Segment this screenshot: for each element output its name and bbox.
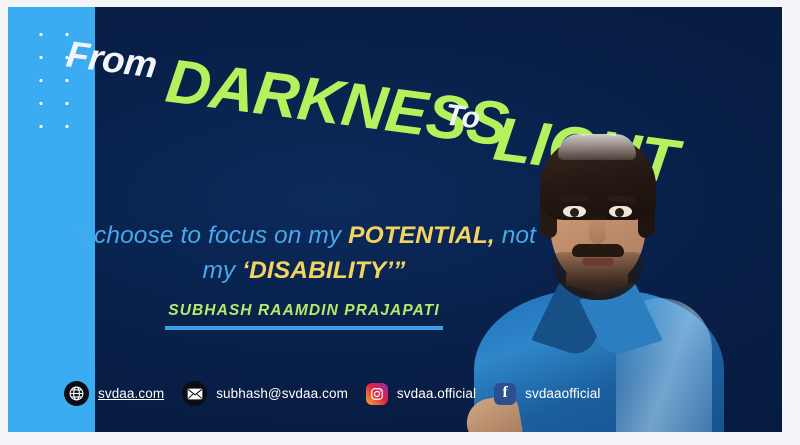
contact-item-facebook[interactable]: f svdaaofficial: [494, 383, 600, 405]
author-underline-rule: [165, 326, 443, 330]
contact-bar: svdaa.com subhash@svdaa.com: [64, 381, 600, 406]
globe-icon: [64, 381, 89, 406]
quote-text: “I choose to focus on my POTENTIAL, not …: [54, 219, 554, 289]
email-label: subhash@svdaa.com: [216, 386, 348, 401]
portrait-pupil-right: [615, 208, 624, 217]
contact-item-instagram[interactable]: svdaa.official: [366, 383, 476, 405]
quote-part-opening: “I choose to focus on my: [72, 222, 348, 249]
portrait-mouth: [582, 258, 614, 266]
quote-highlight-potential: POTENTIAL,: [348, 222, 495, 249]
contact-item-email[interactable]: subhash@svdaa.com: [182, 381, 348, 406]
facebook-label: svdaaofficial: [525, 386, 600, 401]
portrait-moustache: [572, 244, 624, 257]
instagram-label: svdaa.official: [397, 386, 476, 401]
facebook-icon: f: [494, 383, 516, 405]
contact-item-website[interactable]: svdaa.com: [64, 381, 164, 406]
quote-highlight-disability: ‘DISABILITY’”: [242, 257, 405, 284]
quote-block: “I choose to focus on my POTENTIAL, not …: [54, 219, 554, 330]
portrait-hair-highlight: [558, 134, 636, 160]
portrait-nose: [589, 214, 606, 244]
poster-card: From DARKNESS To LIGHT: [8, 7, 782, 432]
instagram-icon: [366, 383, 388, 405]
dot-grid-pattern: [28, 23, 90, 128]
poster-outer-frame: From DARKNESS To LIGHT: [0, 0, 800, 445]
author-name: SUBHASH RAAMDIN PRAJAPATI: [54, 302, 554, 320]
portrait-pupil-left: [570, 208, 579, 217]
website-label: svdaa.com: [98, 386, 164, 401]
envelope-icon: [182, 381, 207, 406]
